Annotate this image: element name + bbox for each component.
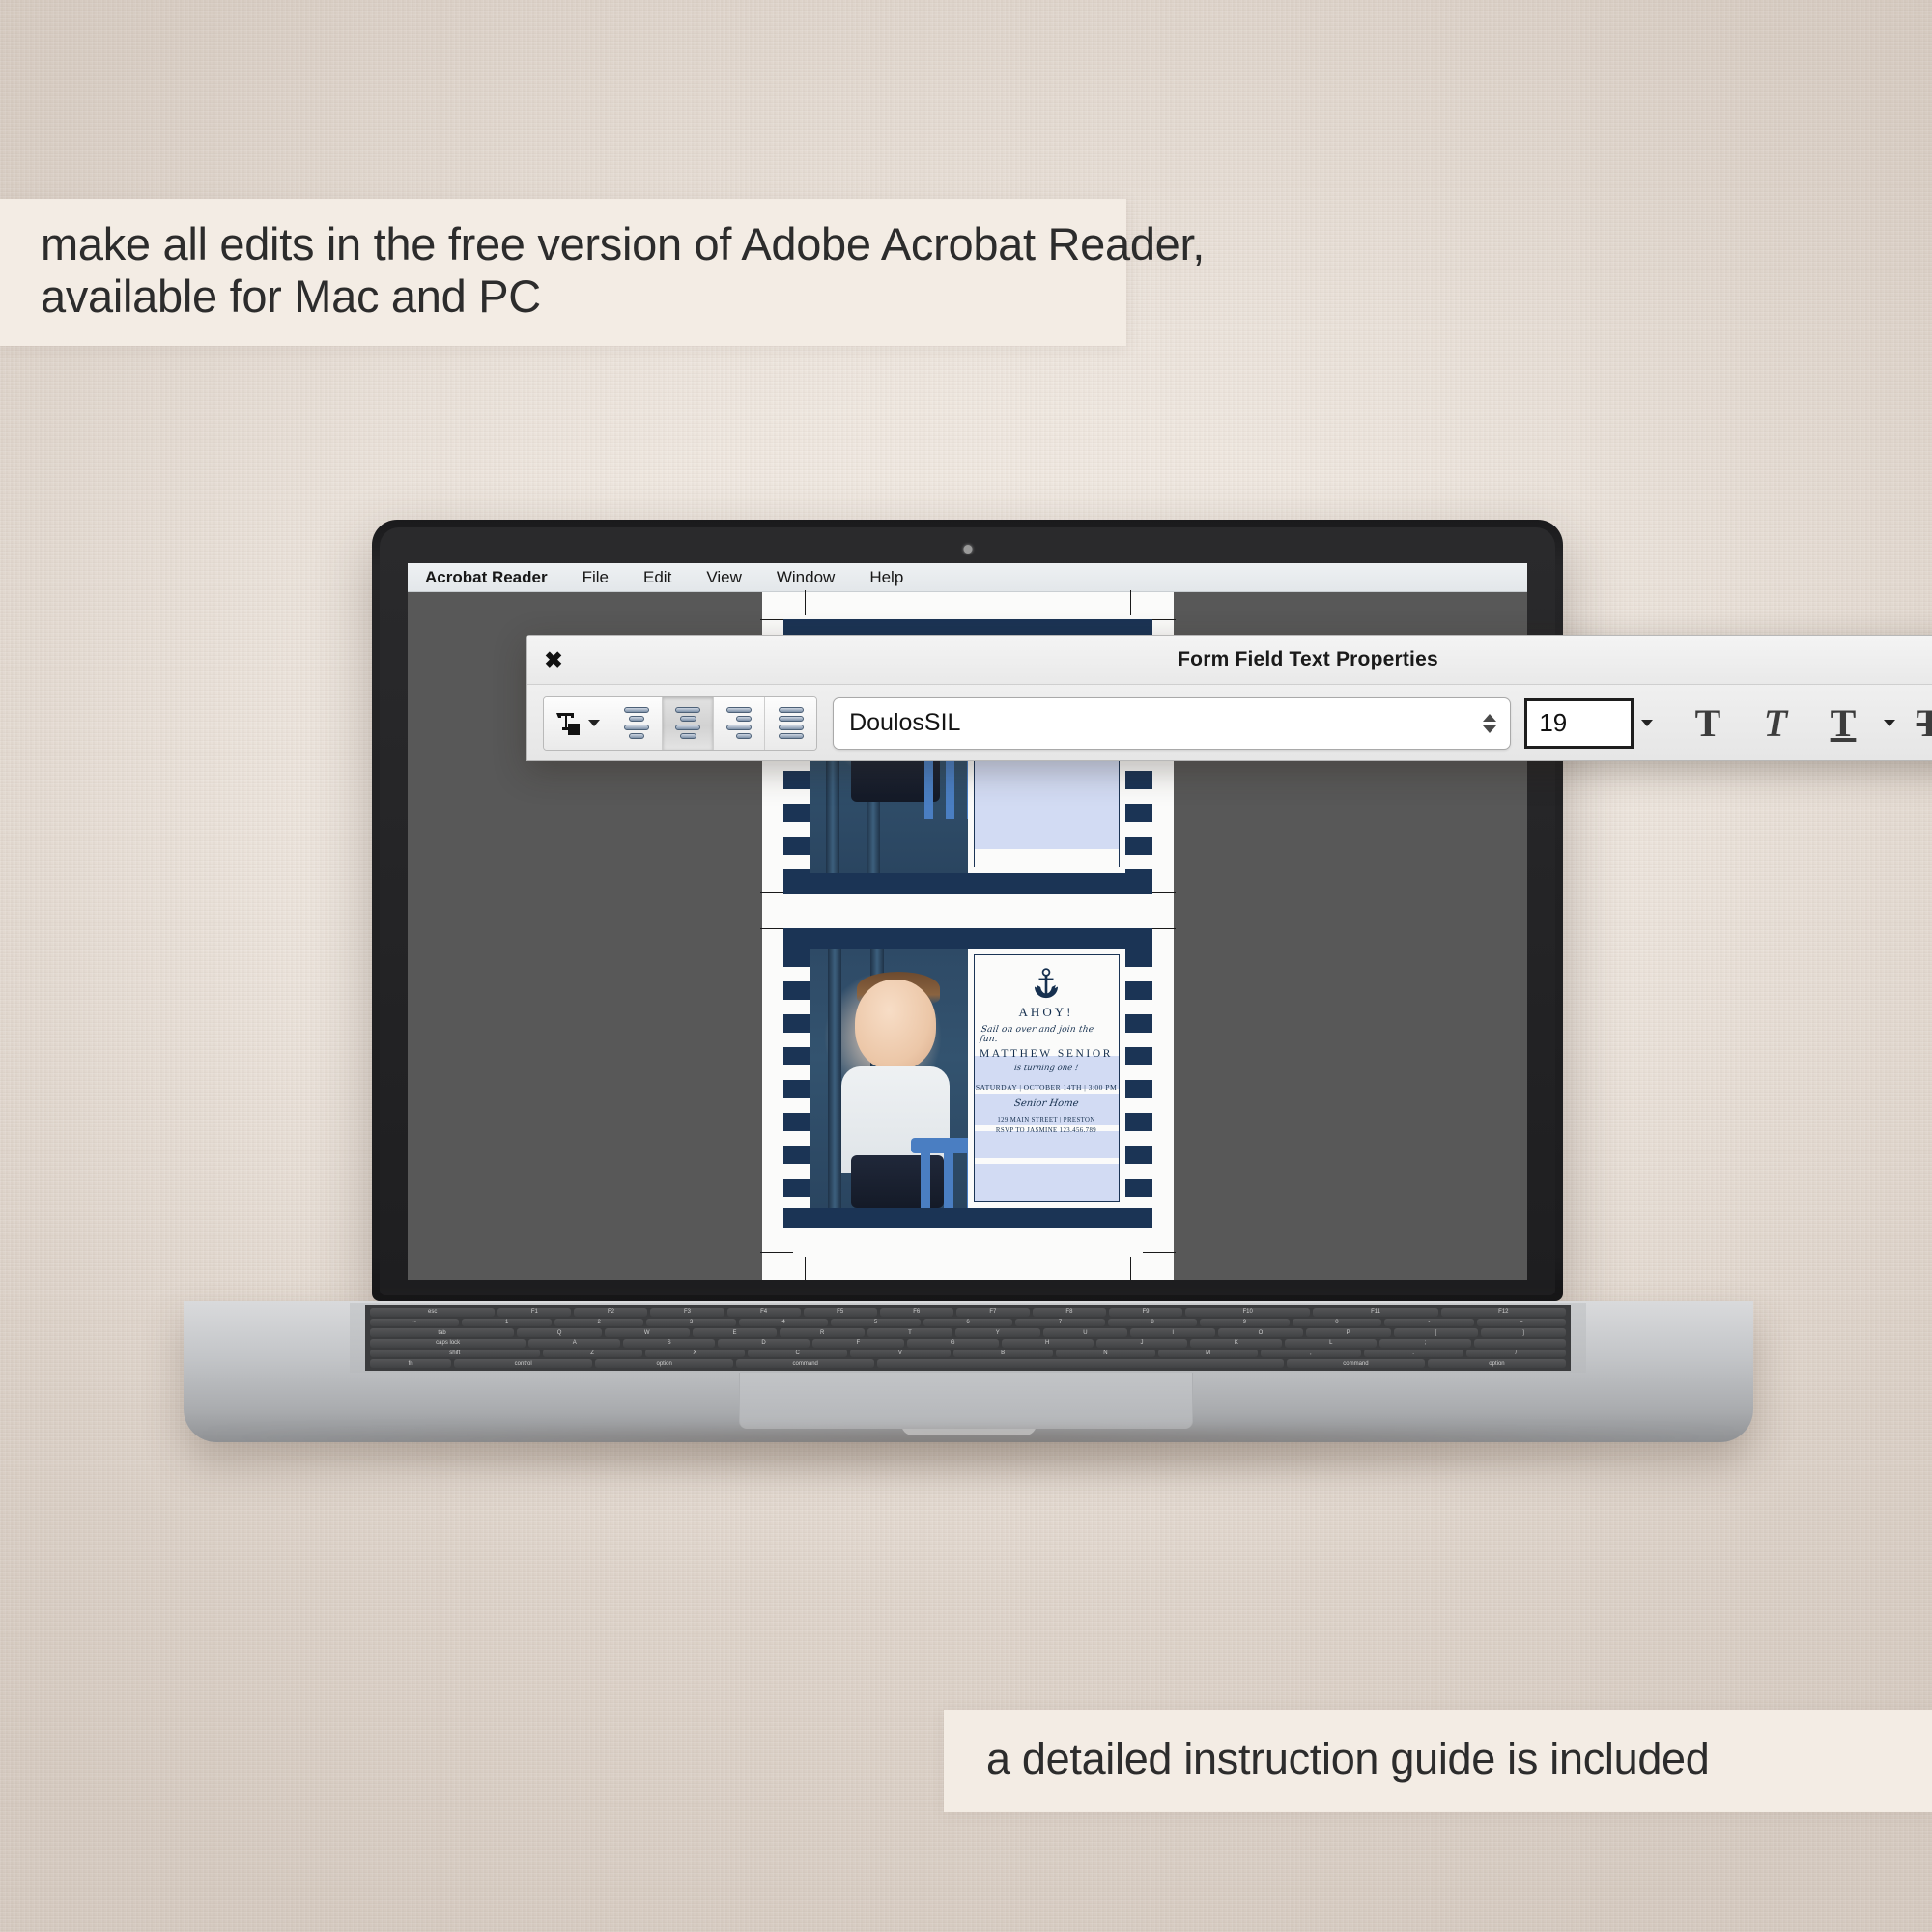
keyboard-row-numbers: ~1234567890-=: [370, 1319, 1566, 1327]
key-[[interactable]: [: [1394, 1328, 1479, 1337]
key-o[interactable]: O: [1218, 1328, 1303, 1337]
key-4[interactable]: 4: [739, 1319, 828, 1327]
key-q[interactable]: Q: [517, 1328, 602, 1337]
key-n[interactable]: N: [1056, 1350, 1155, 1358]
keyboard-row-qwerty: tabQWERTYUIOP[]: [370, 1328, 1566, 1337]
align-right-button[interactable]: [714, 697, 765, 750]
key-g[interactable]: G: [907, 1339, 999, 1348]
key-0[interactable]: 0: [1293, 1319, 1381, 1327]
align-justify-button[interactable]: [765, 697, 816, 750]
keyboard-row-function: escF1F2F3F4F5F6F7F8F9F10F11F12: [370, 1308, 1566, 1317]
key-option[interactable]: option: [595, 1359, 733, 1368]
key-esc[interactable]: esc: [370, 1308, 495, 1317]
crop-mark: [760, 1252, 793, 1253]
keyboard-row-home: caps lockASDFGHJKL;': [370, 1339, 1566, 1348]
keyboard-row-shift: shiftZXCVBNM,./: [370, 1350, 1566, 1358]
key-,[interactable]: ,: [1261, 1350, 1360, 1358]
keyboard-row-modifiers: fncontroloptioncommandcommandoption: [370, 1359, 1566, 1368]
invite-when: SATURDAY | OCTOBER 14TH | 3:00 PM: [976, 1083, 1117, 1092]
key-option[interactable]: option: [1428, 1359, 1566, 1368]
font-family-select[interactable]: DoulosSIL: [833, 697, 1511, 750]
key-w[interactable]: W: [605, 1328, 690, 1337]
key-v[interactable]: V: [850, 1350, 950, 1358]
key-l[interactable]: L: [1285, 1339, 1377, 1348]
key-command[interactable]: command: [1287, 1359, 1425, 1368]
key-6[interactable]: 6: [923, 1319, 1012, 1327]
stepper-arrows-icon[interactable]: [1483, 714, 1496, 733]
align-center-icon: [675, 707, 700, 739]
key-f3[interactable]: F3: [650, 1308, 724, 1317]
card-border-bottom: [783, 1207, 1152, 1228]
key-1[interactable]: 1: [462, 1319, 551, 1327]
text-and-alignment-group[interactable]: [543, 696, 817, 751]
align-justify-icon: [779, 707, 804, 739]
key-a[interactable]: A: [528, 1339, 620, 1348]
text-style-group[interactable]: T T T T: [1674, 694, 1932, 753]
font-size-input[interactable]: 19: [1524, 698, 1634, 749]
key-control[interactable]: control: [454, 1359, 592, 1368]
strikethrough-button[interactable]: T: [1895, 694, 1932, 753]
align-left-button[interactable]: [611, 697, 663, 750]
key-f1[interactable]: F1: [497, 1308, 571, 1317]
key-t[interactable]: T: [867, 1328, 952, 1337]
underline-button[interactable]: T: [1809, 694, 1877, 753]
underline-chevron-down-icon[interactable]: [1884, 720, 1895, 726]
bold-button[interactable]: T: [1674, 694, 1742, 753]
font-size-value: 19: [1539, 708, 1567, 738]
menu-item-window[interactable]: Window: [759, 568, 852, 587]
crop-mark: [805, 1257, 806, 1280]
invite-venue: Senior Home: [1013, 1098, 1079, 1109]
key-3[interactable]: 3: [646, 1319, 735, 1327]
font-size-chevron-down-icon[interactable]: [1641, 720, 1653, 726]
key-fn[interactable]: fn: [370, 1359, 451, 1368]
invite-address: 129 MAIN STREET | PRESTON: [997, 1116, 1094, 1126]
invite-rsvp: RSVP TO JASMINE 123.456.789: [996, 1126, 1096, 1137]
key-f9[interactable]: F9: [1109, 1308, 1182, 1317]
mac-menu-bar: Acrobat Reader File Edit View Window Hel…: [408, 563, 1527, 592]
key-f8[interactable]: F8: [1033, 1308, 1106, 1317]
form-field-text-properties-dialog[interactable]: ✖ Form Field Text Properties: [526, 635, 1932, 761]
align-right-icon: [726, 707, 752, 739]
key-r[interactable]: R: [780, 1328, 865, 1337]
key-f4[interactable]: F4: [727, 1308, 801, 1317]
caption-top-line1: make all edits in the free version of Ad…: [41, 218, 1126, 270]
baby-photo: [810, 949, 968, 1207]
caption-top-line2: available for Mac and PC: [41, 270, 1126, 323]
italic-button[interactable]: T: [1742, 694, 1809, 753]
key-2[interactable]: 2: [554, 1319, 643, 1327]
card-stripe-right: [1125, 949, 1152, 1207]
key-.[interactable]: .: [1364, 1350, 1463, 1358]
key-d[interactable]: D: [718, 1339, 810, 1348]
card-border-top: [783, 928, 1152, 949]
key--[interactable]: -: [1384, 1319, 1473, 1327]
caption-bottom: a detailed instruction guide is included: [944, 1710, 1932, 1812]
laptop-shadow: [203, 1430, 1739, 1488]
key-f2[interactable]: F2: [574, 1308, 647, 1317]
crop-mark: [1143, 1252, 1176, 1253]
key-9[interactable]: 9: [1200, 1319, 1289, 1327]
webcam-icon: [963, 545, 972, 554]
key-~[interactable]: ~: [370, 1319, 459, 1327]
invite-turning: is turning one !: [1013, 1064, 1079, 1073]
key-f5[interactable]: F5: [804, 1308, 877, 1317]
font-family-value: DoulosSIL: [849, 709, 960, 737]
trackpad[interactable]: [739, 1373, 1193, 1429]
invite-name: MATTHEW SENIOR: [980, 1048, 1113, 1060]
crop-mark: [1130, 1257, 1131, 1280]
key-c[interactable]: C: [748, 1350, 847, 1358]
text-tool-icon: [554, 710, 582, 737]
key-i[interactable]: I: [1130, 1328, 1215, 1337]
keyboard-deck: escF1F2F3F4F5F6F7F8F9F10F11F12 ~12345678…: [350, 1303, 1586, 1373]
key-p[interactable]: P: [1306, 1328, 1391, 1337]
key-x[interactable]: X: [645, 1350, 745, 1358]
key-tab[interactable]: tab: [370, 1328, 514, 1337]
key-5[interactable]: 5: [831, 1319, 920, 1327]
key-caps-lock[interactable]: caps lock: [370, 1339, 526, 1348]
key-][interactable]: ]: [1481, 1328, 1566, 1337]
key-k[interactable]: K: [1190, 1339, 1282, 1348]
invitation-card-bottom[interactable]: AHOY! Sail on over and join the fun. MAT…: [783, 928, 1152, 1228]
close-icon[interactable]: ✖: [541, 647, 566, 672]
chevron-down-icon[interactable]: [588, 720, 600, 726]
key-m[interactable]: M: [1158, 1350, 1258, 1358]
card-border-bottom: [783, 873, 1152, 894]
key-;[interactable]: ;: [1379, 1339, 1471, 1348]
menu-item-edit[interactable]: Edit: [626, 568, 689, 587]
key-shift[interactable]: shift: [370, 1350, 540, 1358]
key-7[interactable]: 7: [1015, 1319, 1104, 1327]
menu-item-help[interactable]: Help: [852, 568, 921, 587]
invitation-text-panel: AHOY! Sail on over and join the fun. MAT…: [974, 954, 1120, 1202]
key-f7[interactable]: F7: [956, 1308, 1030, 1317]
key-e[interactable]: E: [693, 1328, 778, 1337]
key-f6[interactable]: F6: [880, 1308, 953, 1317]
caption-top: make all edits in the free version of Ad…: [0, 199, 1126, 346]
key-=[interactable]: =: [1477, 1319, 1566, 1327]
invite-ahoy: AHOY!: [1019, 1005, 1074, 1020]
card-stripe-left: [783, 949, 810, 1207]
key-h[interactable]: H: [1002, 1339, 1094, 1348]
key-u[interactable]: U: [1043, 1328, 1128, 1337]
menu-item-file[interactable]: File: [565, 568, 626, 587]
key-j[interactable]: J: [1096, 1339, 1188, 1348]
key-f12[interactable]: F12: [1441, 1308, 1566, 1317]
menu-item-acrobat-reader[interactable]: Acrobat Reader: [425, 568, 565, 587]
key-space[interactable]: [877, 1359, 1284, 1368]
dialog-title: Form Field Text Properties: [653, 648, 1932, 671]
key-f10[interactable]: F10: [1185, 1308, 1310, 1317]
align-left-icon: [624, 707, 649, 739]
key-f[interactable]: F: [812, 1339, 904, 1348]
crop-mark: [1130, 590, 1131, 615]
text-tool-button[interactable]: [544, 697, 611, 750]
dialog-toolbar[interactable]: DoulosSIL 19 T T T T: [527, 685, 1932, 761]
dialog-title-bar[interactable]: ✖ Form Field Text Properties: [527, 636, 1932, 685]
keyboard[interactable]: escF1F2F3F4F5F6F7F8F9F10F11F12 ~12345678…: [365, 1305, 1571, 1371]
key-'[interactable]: ': [1474, 1339, 1566, 1348]
align-center-button[interactable]: [663, 697, 714, 750]
key-s[interactable]: S: [623, 1339, 715, 1348]
crop-mark: [805, 590, 806, 615]
key-8[interactable]: 8: [1108, 1319, 1197, 1327]
key-z[interactable]: Z: [543, 1350, 642, 1358]
key-command[interactable]: command: [736, 1359, 874, 1368]
key-b[interactable]: B: [953, 1350, 1053, 1358]
menu-item-view[interactable]: View: [689, 568, 759, 587]
key-/[interactable]: /: [1466, 1350, 1566, 1358]
key-f11[interactable]: F11: [1313, 1308, 1437, 1317]
anchor-icon: [1032, 968, 1061, 1001]
invite-tagline: Sail on over and join the fun.: [979, 1025, 1114, 1044]
key-y[interactable]: Y: [955, 1328, 1040, 1337]
